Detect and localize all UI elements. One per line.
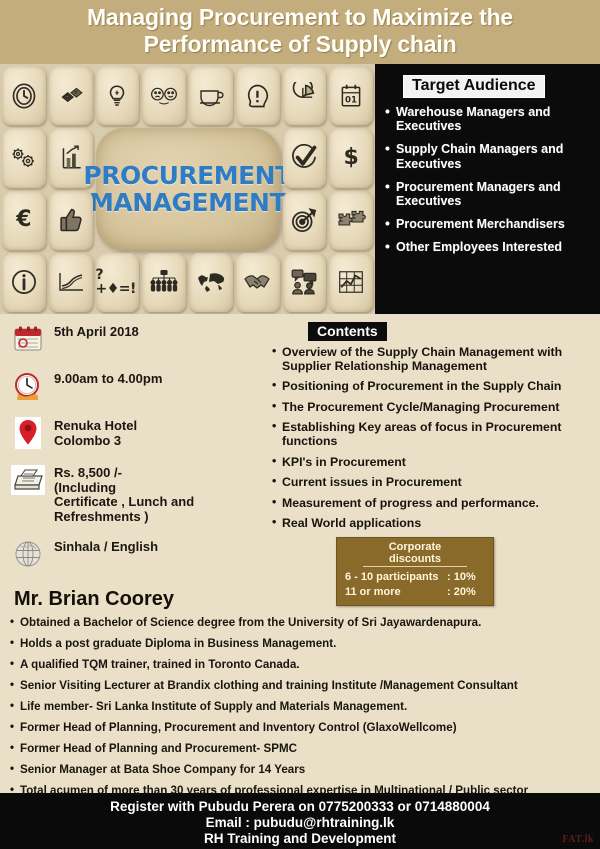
plaque-line-1: PROCUREMENT (83, 163, 291, 189)
event-details-list: 5th April 2018 9.00am to 4.00pm (0, 322, 270, 584)
list-item: Current issues in Procurement (272, 476, 594, 490)
list-item: The Procurement Cycle/Managing Procureme… (272, 401, 594, 415)
target-dart-icon (283, 191, 327, 250)
list-item: Senior Manager at Bata Shoe Company for … (10, 763, 590, 776)
discount-title: Corporate discounts (363, 541, 467, 567)
list-item: Procurement Managers and Executives (385, 180, 592, 208)
fee-note-1: (Including (54, 481, 194, 496)
calendar-icon (10, 322, 46, 356)
list-item: Former Head of Planning, Procurement and… (10, 721, 590, 734)
list-item: Life member- Sri Lanka Institute of Supp… (10, 700, 590, 713)
dice-icon (49, 66, 93, 125)
list-item: Obtained a Bachelor of Science degree fr… (10, 616, 590, 629)
detail-text: Sinhala / English (54, 537, 158, 555)
cash-counter-icon (10, 463, 46, 497)
checkmark-icon (283, 128, 327, 187)
gears-icon (2, 128, 46, 187)
detail-text: Rs. 8,500 /- (Including Certificate , Lu… (54, 463, 194, 524)
detail-row-language: Sinhala / English (10, 537, 270, 571)
list-item: Supply Chain Managers and Executives (385, 142, 592, 170)
contents-list: Overview of the Supply Chain Management … (272, 346, 594, 531)
contents-title: Contents (308, 322, 387, 341)
detail-row-venue: Renuka Hotel Colombo 3 (10, 416, 270, 450)
event-details-and-contents: 5th April 2018 9.00am to 4.00pm (0, 314, 600, 584)
org-chart-icon (142, 253, 186, 312)
equation-icon: ?+♦=! (96, 253, 140, 312)
target-audience-title: Target Audience (403, 75, 545, 98)
languages: Sinhala / English (54, 540, 158, 555)
coffee-cup-icon (189, 66, 233, 125)
handshake-icon (236, 253, 280, 312)
target-audience-list: Warehouse Managers and Executives Supply… (385, 105, 592, 255)
detail-row-time: 9.00am to 4.00pm (10, 369, 270, 403)
speaker-bio-list: Obtained a Bachelor of Science degree fr… (10, 616, 590, 810)
detail-text: 5th April 2018 (54, 322, 139, 340)
detail-row-fee: Rs. 8,500 /- (Including Certificate , Lu… (10, 463, 270, 524)
fee-note-2: Certificate , Lunch and (54, 495, 194, 510)
world-map-icon (189, 253, 233, 312)
detail-text: Renuka Hotel Colombo 3 (54, 416, 137, 448)
info-icon (2, 253, 46, 312)
dollar-icon: $ (329, 128, 373, 187)
puzzle-icon (329, 191, 373, 250)
page-header: Managing Procurement to Maximize the Per… (0, 0, 600, 64)
detail-text: 9.00am to 4.00pm (54, 369, 162, 387)
discount-row: 6 - 10 participants : 10% (345, 570, 485, 585)
faces-icon (142, 66, 186, 125)
target-audience-panel: Target Audience Warehouse Managers and E… (375, 64, 600, 314)
thumbs-up-icon (49, 191, 93, 250)
discount-value: : 20% (447, 585, 485, 600)
people-chat-icon (283, 253, 327, 312)
list-item: Warehouse Managers and Executives (385, 105, 592, 133)
list-item: Measurement of progress and performance. (272, 497, 594, 511)
flyer-page: Managing Procurement to Maximize the Per… (0, 0, 600, 849)
euro-icon: € (2, 191, 46, 250)
watermark: FAT.lk (562, 834, 594, 845)
speaker-name: Mr. Brian Coorey (14, 588, 590, 611)
plaque-line-2: MANAGEMENT (89, 190, 286, 216)
speaker-section: Mr. Brian Coorey Obtained a Bachelor of … (0, 584, 600, 810)
hero-section: 01 (0, 64, 600, 314)
line-chart-icon (49, 253, 93, 312)
list-item: A qualified TQM trainer, trained in Toro… (10, 658, 590, 671)
registration-footer: Register with Pubudu Perera on 077520033… (0, 793, 600, 849)
procurement-dice-image: 01 (0, 64, 375, 314)
list-item: Overview of the Supply Chain Management … (272, 346, 594, 373)
list-item: Other Employees Interested (385, 240, 592, 254)
fee-amount: Rs. 8,500 /- (54, 466, 194, 481)
page-title-line1: Managing Procurement to Maximize the (0, 4, 600, 31)
procurement-management-plaque: PROCUREMENT MANAGEMENT (96, 128, 280, 250)
discount-label: 11 or more (345, 585, 401, 600)
corporate-discount-box: Corporate discounts 6 - 10 participants … (336, 537, 494, 606)
clock-icon (2, 66, 46, 125)
list-item: Senior Visiting Lecturer at Brandix clot… (10, 679, 590, 692)
list-item: Establishing Key areas of focus in Procu… (272, 421, 594, 448)
page-title-line2: Performance of Supply chain (0, 31, 600, 58)
fee-note-3: Refreshments ) (54, 510, 194, 525)
location-pin-icon (10, 416, 46, 450)
equation-label: ?+♦=! (96, 268, 140, 296)
svg-text:01: 01 (345, 95, 357, 105)
pie-chart-icon (283, 66, 327, 125)
event-date: 5th April 2018 (54, 325, 139, 340)
clock-icon (10, 369, 46, 403)
list-item: Former Head of Planning and Procurement-… (10, 742, 590, 755)
discount-row: 11 or more : 20% (345, 585, 485, 600)
grid-chart-icon (329, 253, 373, 312)
head-exclamation-icon (236, 66, 280, 125)
register-contact-line: Register with Pubudu Perera on 077520033… (0, 799, 600, 815)
list-item: KPI's in Procurement (272, 456, 594, 470)
organizer-name: RH Training and Development (0, 831, 600, 847)
detail-row-date: 5th April 2018 (10, 322, 270, 356)
calendar-icon: 01 (329, 66, 373, 125)
venue-name: Renuka Hotel (54, 419, 137, 434)
lightbulb-icon (96, 66, 140, 125)
discount-label: 6 - 10 participants (345, 570, 439, 585)
discount-value: : 10% (447, 570, 485, 585)
venue-city: Colombo 3 (54, 434, 137, 449)
event-time: 9.00am to 4.00pm (54, 372, 162, 387)
list-item: Holds a post graduate Diploma in Busines… (10, 637, 590, 650)
globe-icon (10, 537, 46, 571)
register-email-line[interactable]: Email : pubudu@rhtraining.lk (0, 815, 600, 831)
list-item: Real World applications (272, 517, 594, 531)
list-item: Positioning of Procurement in the Supply… (272, 380, 594, 394)
list-item: Procurement Merchandisers (385, 217, 592, 231)
